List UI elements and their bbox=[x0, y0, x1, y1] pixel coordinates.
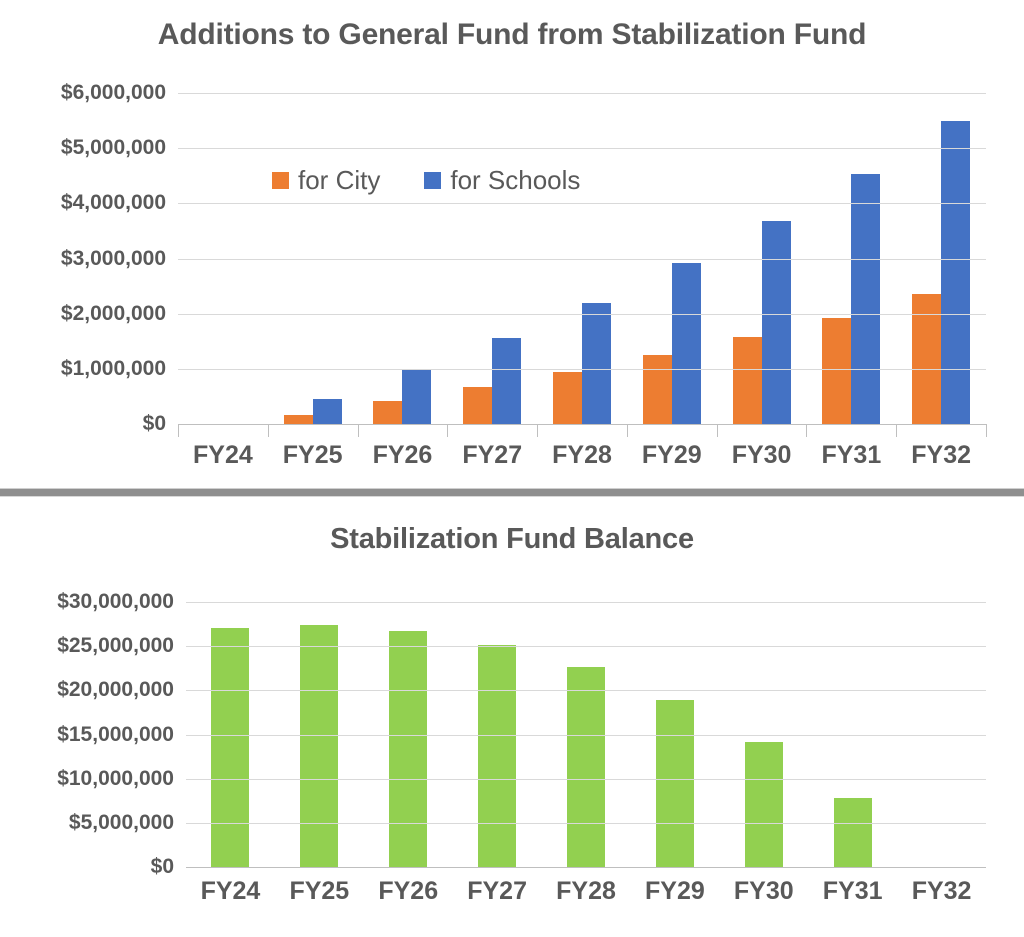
gridline bbox=[186, 646, 986, 647]
y-axis-tick-label: $20,000,000 bbox=[57, 678, 174, 702]
bar-fy31-stabilization-fund-balance[interactable] bbox=[834, 798, 872, 867]
bar-fy30-for-schools[interactable] bbox=[762, 221, 791, 424]
gridline bbox=[178, 314, 986, 315]
bar-fy26-for-schools[interactable] bbox=[402, 370, 431, 424]
x-axis-tick-mark bbox=[986, 424, 987, 437]
x-axis-category-label: FY24 bbox=[186, 877, 275, 906]
bar-fy30-for-city[interactable] bbox=[733, 337, 762, 424]
bar-fy28-for-city[interactable] bbox=[553, 372, 582, 424]
x-axis-tick-mark bbox=[806, 424, 807, 437]
bar-fy31-for-schools[interactable] bbox=[851, 174, 880, 424]
x-axis-line bbox=[186, 867, 986, 868]
x-axis-tick-mark bbox=[358, 424, 359, 437]
y-axis-tick-label: $3,000,000 bbox=[61, 247, 166, 271]
y-axis-labels-additions: $6,000,000$5,000,000$4,000,000$3,000,000… bbox=[0, 93, 166, 424]
x-axis-category-label: FY26 bbox=[358, 441, 448, 470]
bar-fy26-stabilization-fund-balance[interactable] bbox=[389, 631, 427, 867]
x-axis-category-label: FY29 bbox=[627, 441, 717, 470]
chart-panel-balance: Stabilization Fund Balance $30,000,000$2… bbox=[0, 497, 1024, 937]
legend-item[interactable]: for City bbox=[272, 165, 380, 196]
x-axis-category-label: FY28 bbox=[537, 441, 627, 470]
bar-fy25-for-schools[interactable] bbox=[313, 399, 342, 424]
x-axis-tick-mark bbox=[537, 424, 538, 437]
y-axis-tick-label: $1,000,000 bbox=[61, 357, 166, 381]
x-axis-category-label: FY32 bbox=[896, 441, 986, 470]
x-axis-tick-mark bbox=[896, 424, 897, 437]
y-axis-labels-balance: $30,000,000$25,000,000$20,000,000$15,000… bbox=[0, 602, 174, 867]
gridline bbox=[178, 259, 986, 260]
gridline bbox=[186, 690, 986, 691]
plot-area-additions bbox=[178, 93, 986, 424]
x-axis-category-label: FY24 bbox=[178, 441, 268, 470]
bar-fy27-for-city[interactable] bbox=[463, 387, 492, 424]
x-axis-tick-mark bbox=[627, 424, 628, 437]
legend-swatch-city bbox=[272, 172, 289, 189]
gridline bbox=[178, 148, 986, 149]
x-axis-category-label: FY32 bbox=[897, 877, 986, 906]
chart-panel-additions: Additions to General Fund from Stabiliza… bbox=[0, 0, 1024, 488]
bar-fy29-for-city[interactable] bbox=[643, 355, 672, 424]
bar-fy25-stabilization-fund-balance[interactable] bbox=[300, 625, 338, 867]
x-axis-tick-mark bbox=[717, 424, 718, 437]
x-axis-category-label: FY25 bbox=[268, 441, 358, 470]
y-axis-tick-label: $30,000,000 bbox=[57, 590, 174, 614]
x-axis-labels-balance: FY24FY25FY26FY27FY28FY29FY30FY31FY32 bbox=[186, 877, 986, 906]
x-axis-category-label: FY31 bbox=[806, 441, 896, 470]
gridline bbox=[186, 735, 986, 736]
y-axis-tick-label: $5,000,000 bbox=[61, 136, 166, 160]
x-axis-category-label: FY30 bbox=[717, 441, 807, 470]
bar-fy30-stabilization-fund-balance[interactable] bbox=[745, 742, 783, 867]
x-axis-tick-mark bbox=[447, 424, 448, 437]
bar-fy26-for-city[interactable] bbox=[373, 401, 402, 424]
chart-legend-additions: for Cityfor Schools bbox=[272, 165, 580, 196]
x-axis-category-label: FY28 bbox=[542, 877, 631, 906]
y-axis-tick-label: $15,000,000 bbox=[57, 723, 174, 747]
bar-fy29-stabilization-fund-balance[interactable] bbox=[656, 700, 694, 867]
legend-label: for City bbox=[298, 165, 380, 196]
gridline bbox=[186, 779, 986, 780]
page-title-balance: Stabilization Fund Balance bbox=[0, 523, 1024, 556]
legend-item[interactable]: for Schools bbox=[424, 165, 580, 196]
bar-fy28-stabilization-fund-balance[interactable] bbox=[567, 667, 605, 867]
gridline bbox=[178, 93, 986, 94]
bar-fy24-stabilization-fund-balance[interactable] bbox=[211, 628, 249, 867]
x-axis-ticks-additions bbox=[178, 424, 986, 438]
bar-fy25-for-city[interactable] bbox=[284, 415, 313, 424]
x-axis-category-label: FY25 bbox=[275, 877, 364, 906]
x-axis-category-label: FY29 bbox=[630, 877, 719, 906]
y-axis-tick-label: $5,000,000 bbox=[69, 811, 174, 835]
bar-fy28-for-schools[interactable] bbox=[582, 303, 611, 424]
y-axis-tick-label: $10,000,000 bbox=[57, 767, 174, 791]
plot-area-balance bbox=[186, 602, 986, 867]
bar-fy27-stabilization-fund-balance[interactable] bbox=[478, 645, 516, 867]
bar-fy27-for-schools[interactable] bbox=[492, 338, 521, 424]
y-axis-tick-label: $0 bbox=[143, 412, 166, 436]
y-axis-tick-label: $4,000,000 bbox=[61, 191, 166, 215]
y-axis-tick-label: $0 bbox=[151, 855, 174, 879]
gridline bbox=[186, 823, 986, 824]
bar-fy32-for-schools[interactable] bbox=[941, 121, 970, 424]
x-axis-labels-additions: FY24FY25FY26FY27FY28FY29FY30FY31FY32 bbox=[178, 441, 986, 470]
bar-fy29-for-schools[interactable] bbox=[672, 263, 701, 424]
gridline bbox=[178, 369, 986, 370]
x-axis-category-label: FY30 bbox=[719, 877, 808, 906]
legend-label: for Schools bbox=[450, 165, 580, 196]
y-axis-tick-label: $25,000,000 bbox=[57, 634, 174, 658]
gridline bbox=[178, 203, 986, 204]
gridline bbox=[186, 602, 986, 603]
x-axis-category-label: FY27 bbox=[447, 441, 537, 470]
page-title-additions: Additions to General Fund from Stabiliza… bbox=[0, 18, 1024, 52]
x-axis-tick-mark bbox=[268, 424, 269, 437]
x-axis-category-label: FY27 bbox=[453, 877, 542, 906]
legend-swatch-schools bbox=[424, 172, 441, 189]
bar-fy31-for-city[interactable] bbox=[822, 318, 851, 424]
x-axis-category-label: FY26 bbox=[364, 877, 453, 906]
panel-divider bbox=[0, 488, 1024, 497]
x-axis-tick-mark bbox=[178, 424, 179, 437]
y-axis-tick-label: $6,000,000 bbox=[61, 81, 166, 105]
y-axis-tick-label: $2,000,000 bbox=[61, 302, 166, 326]
x-axis-category-label: FY31 bbox=[808, 877, 897, 906]
